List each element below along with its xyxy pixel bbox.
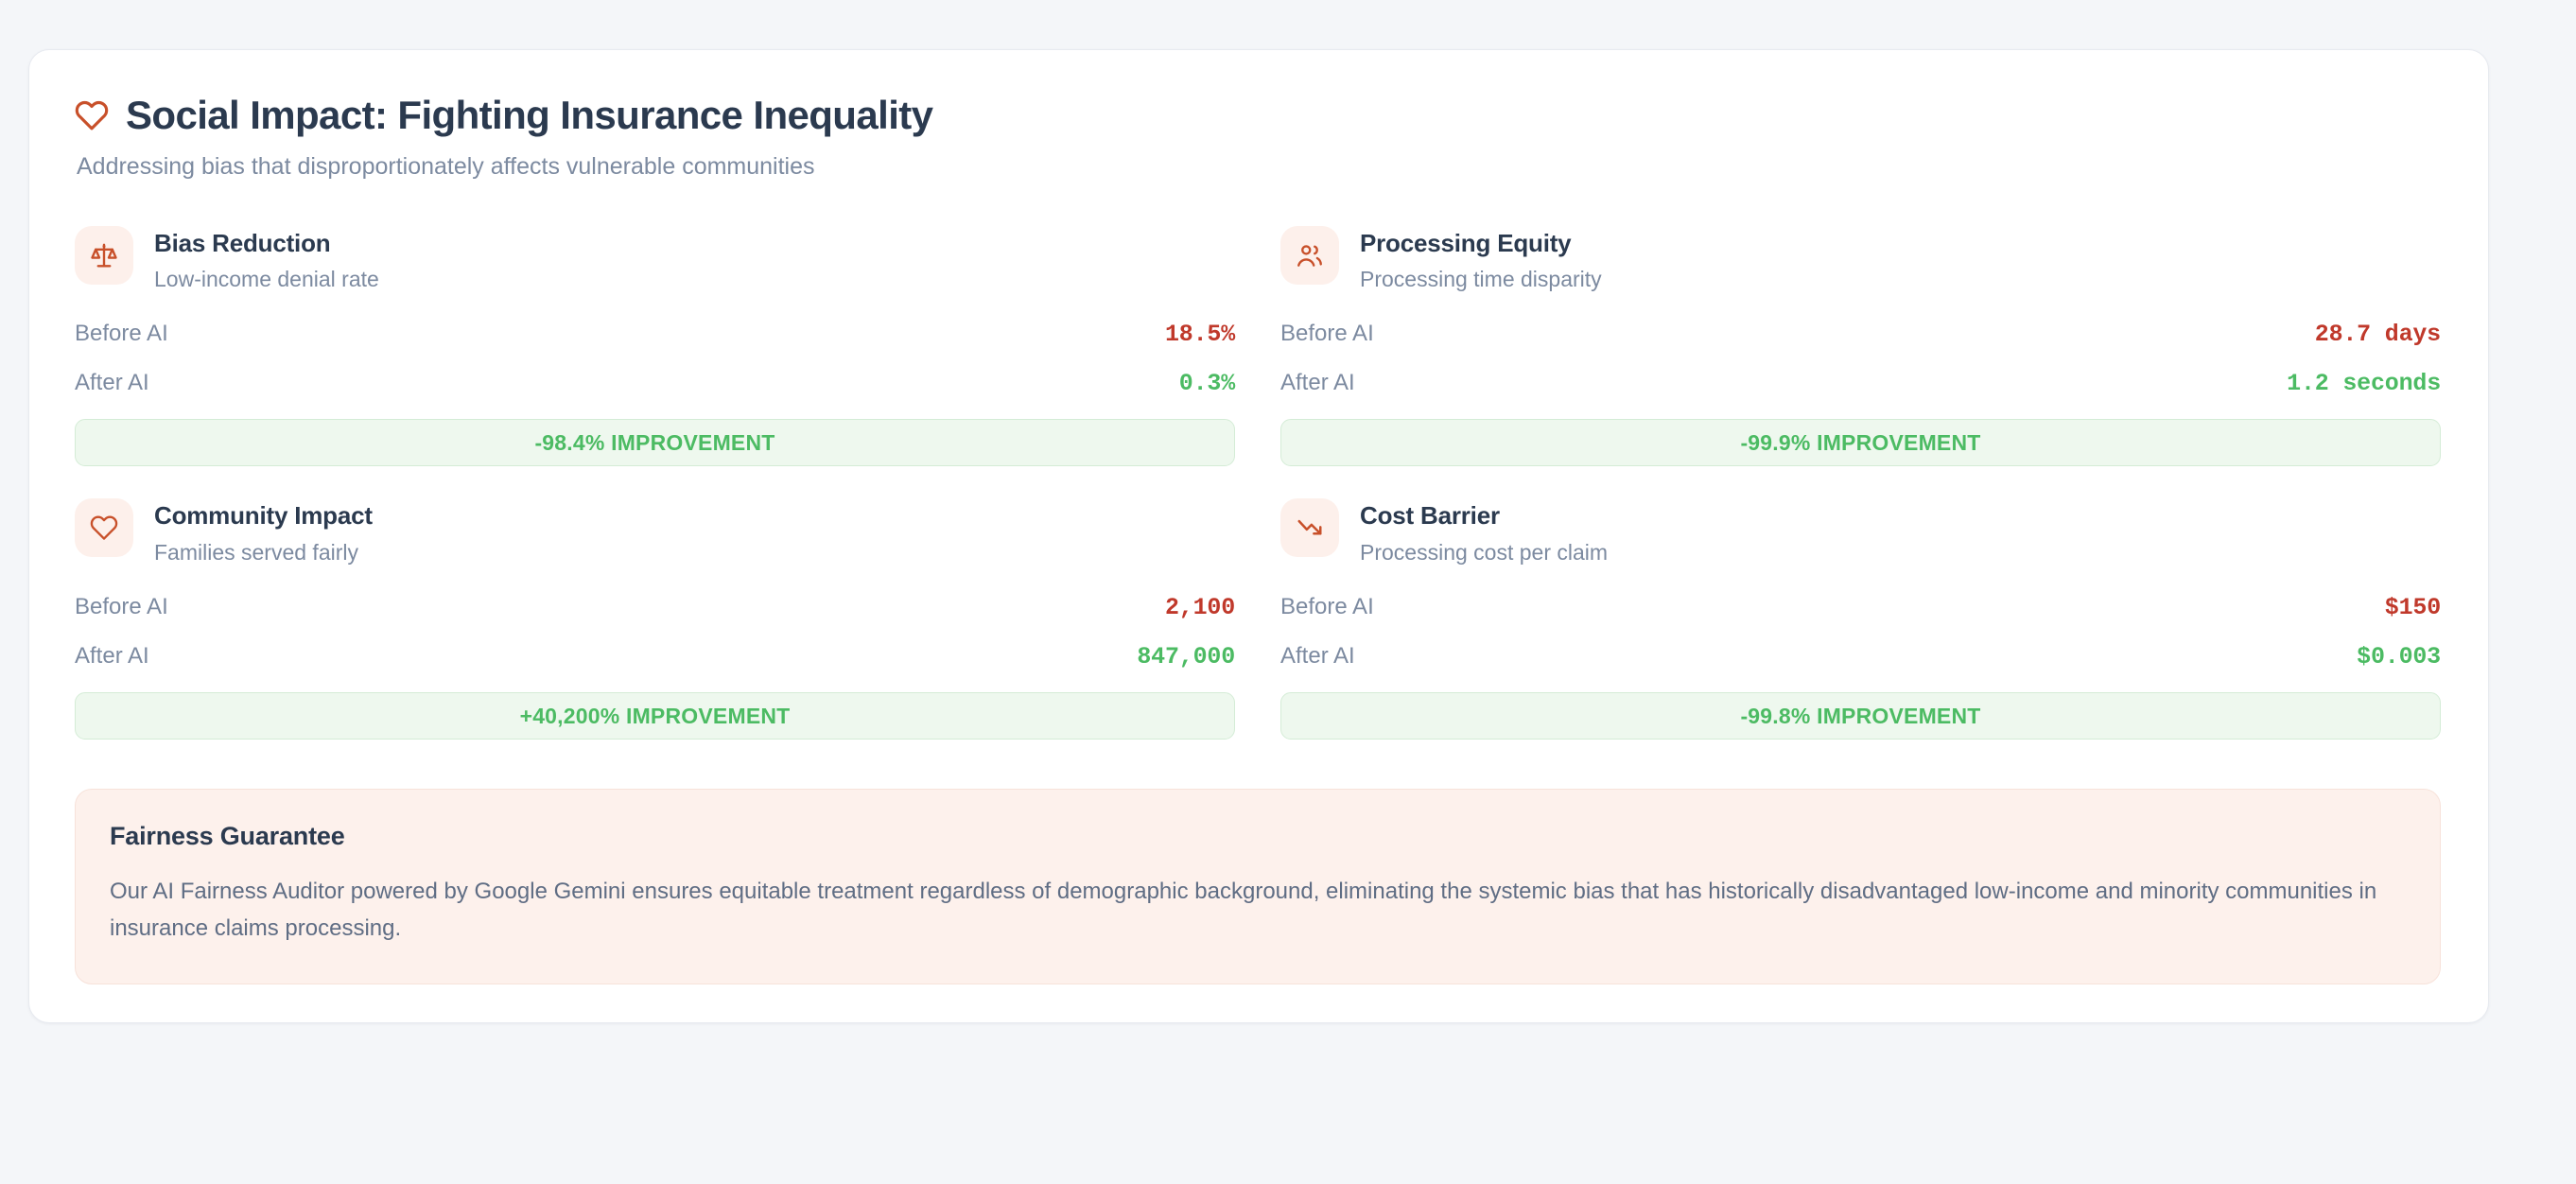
metric-header-text: Community Impact Families served fairly	[154, 498, 373, 566]
before-value: $150	[2385, 594, 2441, 621]
metric-description: Families served fairly	[154, 540, 373, 566]
metrics-grid: Bias Reduction Low-income denial rate Be…	[75, 226, 2441, 740]
after-label: After AI	[75, 643, 149, 670]
improvement-badge: +40,200% IMPROVEMENT	[75, 692, 1235, 740]
panel-header: Social Impact: Fighting Insurance Inequa…	[75, 94, 2441, 183]
improvement-badge: -98.4% IMPROVEMENT	[75, 419, 1235, 466]
metric-row-after: After AI 1.2 seconds	[1280, 370, 2441, 397]
fairness-text: Our AI Fairness Auditor powered by Googl…	[110, 874, 2406, 948]
metric-row-before: Before AI $150	[1280, 594, 2441, 621]
before-label: Before AI	[75, 594, 168, 620]
metric-description: Processing cost per claim	[1360, 540, 1608, 566]
metric-row-after: After AI 0.3%	[75, 370, 1235, 397]
metric-row-after: After AI 847,000	[75, 643, 1235, 670]
before-label: Before AI	[75, 321, 168, 347]
after-value: $0.003	[2357, 643, 2441, 670]
after-label: After AI	[75, 370, 149, 396]
before-value: 18.5%	[1165, 321, 1235, 348]
heart-icon	[75, 498, 133, 557]
metric-name: Community Impact	[154, 501, 373, 531]
page-root: Social Impact: Fighting Insurance Inequa…	[0, 0, 2576, 1184]
metric-row-before: Before AI 28.7 days	[1280, 321, 2441, 348]
users-icon	[1280, 226, 1339, 285]
metric-description: Low-income denial rate	[154, 267, 379, 293]
metric-row-after: After AI $0.003	[1280, 643, 2441, 670]
metric-header: Cost Barrier Processing cost per claim	[1280, 498, 2441, 566]
page-title: Social Impact: Fighting Insurance Inequa…	[126, 94, 932, 137]
metric-header-text: Bias Reduction Low-income denial rate	[154, 226, 379, 293]
metric-description: Processing time disparity	[1360, 267, 1602, 293]
metric-header-text: Processing Equity Processing time dispar…	[1360, 226, 1602, 293]
heart-icon	[75, 98, 109, 132]
fairness-title: Fairness Guarantee	[110, 822, 2406, 851]
after-value: 0.3%	[1179, 370, 1235, 397]
before-label: Before AI	[1280, 594, 1374, 620]
metric-header: Bias Reduction Low-income denial rate	[75, 226, 1235, 293]
before-value: 28.7 days	[2315, 321, 2441, 348]
metric-name: Bias Reduction	[154, 229, 379, 258]
metric-name: Cost Barrier	[1360, 501, 1608, 531]
metric-row-before: Before AI 18.5%	[75, 321, 1235, 348]
metric-card-cost-barrier: Cost Barrier Processing cost per claim B…	[1280, 498, 2441, 740]
trending-down-icon	[1280, 498, 1339, 557]
before-value: 2,100	[1165, 594, 1235, 621]
improvement-badge: -99.8% IMPROVEMENT	[1280, 692, 2441, 740]
metric-header-text: Cost Barrier Processing cost per claim	[1360, 498, 1608, 566]
scales-balance-icon	[75, 226, 133, 285]
fairness-guarantee-box: Fairness Guarantee Our AI Fairness Audit…	[75, 789, 2441, 984]
after-value: 847,000	[1137, 643, 1235, 670]
metric-card-processing-equity: Processing Equity Processing time dispar…	[1280, 226, 2441, 467]
metric-header: Processing Equity Processing time dispar…	[1280, 226, 2441, 293]
metric-card-community-impact: Community Impact Families served fairly …	[75, 498, 1235, 740]
title-row: Social Impact: Fighting Insurance Inequa…	[75, 94, 2441, 137]
metric-card-bias-reduction: Bias Reduction Low-income denial rate Be…	[75, 226, 1235, 467]
before-label: Before AI	[1280, 321, 1374, 347]
metric-row-before: Before AI 2,100	[75, 594, 1235, 621]
improvement-badge: -99.9% IMPROVEMENT	[1280, 419, 2441, 466]
social-impact-panel: Social Impact: Fighting Insurance Inequa…	[28, 49, 2489, 1023]
metric-header: Community Impact Families served fairly	[75, 498, 1235, 566]
after-label: After AI	[1280, 643, 1355, 670]
after-value: 1.2 seconds	[2287, 370, 2441, 397]
panel-subtitle: Addressing bias that disproportionately …	[77, 151, 2441, 183]
after-label: After AI	[1280, 370, 1355, 396]
metric-name: Processing Equity	[1360, 229, 1602, 258]
